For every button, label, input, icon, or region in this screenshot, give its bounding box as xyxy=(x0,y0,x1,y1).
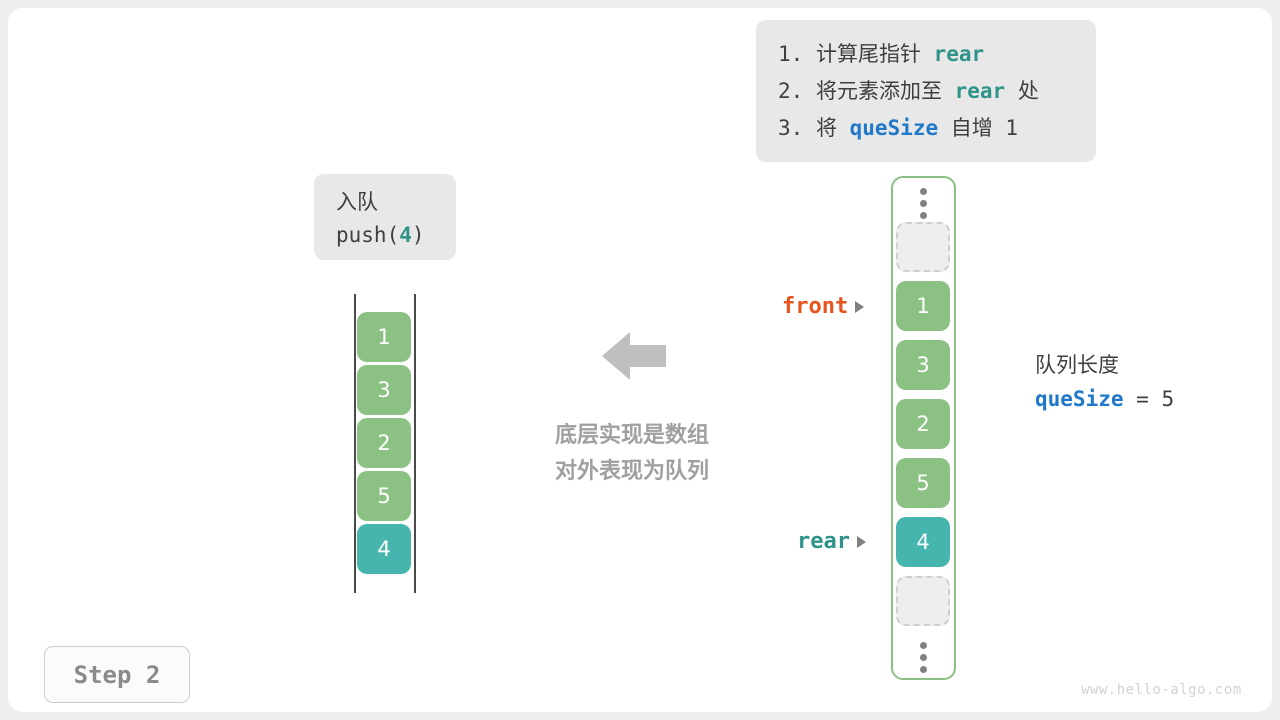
queue-cell: 3 xyxy=(357,365,411,415)
front-pointer-arrow-icon xyxy=(855,301,864,313)
step-3-text-before: 将 xyxy=(816,116,850,140)
left-arrow-icon xyxy=(600,328,668,388)
queue-size-var: queSize xyxy=(1035,387,1124,411)
queue-rail-left xyxy=(354,294,356,593)
push-call-suffix: ) xyxy=(412,223,425,247)
caption-line-2: 对外表现为队列 xyxy=(516,454,748,490)
array-cell-new: 4 xyxy=(896,517,950,567)
step-3-text-after: 自增 1 xyxy=(938,116,1018,140)
array-cell: 3 xyxy=(896,340,950,390)
step-3-code: queSize xyxy=(850,116,939,140)
diagram-card: 1. 计算尾指针 rear 2. 将元素添加至 rear 处 3. 将 queS… xyxy=(8,8,1272,712)
push-call-signature: push(4) xyxy=(336,219,456,252)
watermark: www.hello-algo.com xyxy=(1081,682,1242,698)
front-pointer-label: front xyxy=(782,294,864,319)
rear-pointer-arrow-icon xyxy=(857,536,866,548)
step-1-number: 1. xyxy=(778,42,803,66)
queue-cell: 5 xyxy=(357,471,411,521)
step-2-number: 2. xyxy=(778,79,803,103)
array-cell-empty xyxy=(896,222,950,272)
array-cell: 1 xyxy=(896,281,950,331)
push-operation-panel: 入队 push(4) xyxy=(314,174,456,260)
array-top-ellipsis-icon xyxy=(920,188,927,219)
queue-cell-new: 4 xyxy=(357,524,411,574)
queue-cell: 2 xyxy=(357,418,411,468)
step-badge: Step 2 xyxy=(44,646,190,703)
queue-rail-right xyxy=(414,294,416,593)
queue-size-note: 队列长度 queSize = 5 xyxy=(1035,348,1174,416)
queue-cell: 1 xyxy=(357,312,411,362)
queue-size-value: 5 xyxy=(1161,387,1174,411)
array-cell: 2 xyxy=(896,399,950,449)
step-2-text-after: 处 xyxy=(1005,79,1039,103)
step-1-code: rear xyxy=(934,42,985,66)
push-panel-title: 入队 xyxy=(336,186,456,219)
canvas-background: 1. 计算尾指针 rear 2. 将元素添加至 rear 处 3. 将 queS… xyxy=(0,0,1280,720)
rear-pointer-text: rear xyxy=(797,529,850,554)
push-call-prefix: push( xyxy=(336,223,399,247)
array-cell-empty xyxy=(896,576,950,626)
step-2-text-before: 将元素添加至 xyxy=(816,79,955,103)
algorithm-step-2: 2. 将元素添加至 rear 处 xyxy=(778,73,1074,110)
front-pointer-text: front xyxy=(782,294,848,319)
algorithm-step-1: 1. 计算尾指针 rear xyxy=(778,36,1074,73)
queue-size-title: 队列长度 xyxy=(1035,348,1174,382)
step-3-number: 3. xyxy=(778,116,803,140)
array-cell: 5 xyxy=(896,458,950,508)
rear-pointer-label: rear xyxy=(797,529,866,554)
push-call-value: 4 xyxy=(399,223,412,247)
queue-size-expression: queSize = 5 xyxy=(1035,382,1174,416)
algorithm-step-3: 3. 将 queSize 自增 1 xyxy=(778,110,1074,147)
diagram-caption: 底层实现是数组 对外表现为队列 xyxy=(516,418,748,490)
array-bottom-ellipsis-icon xyxy=(920,642,927,673)
queue-size-equals: = xyxy=(1124,387,1162,411)
algorithm-steps-panel: 1. 计算尾指针 rear 2. 将元素添加至 rear 处 3. 将 queS… xyxy=(756,20,1096,162)
caption-line-1: 底层实现是数组 xyxy=(516,418,748,454)
step-2-code: rear xyxy=(955,79,1006,103)
step-1-text-before: 计算尾指针 xyxy=(816,42,934,66)
